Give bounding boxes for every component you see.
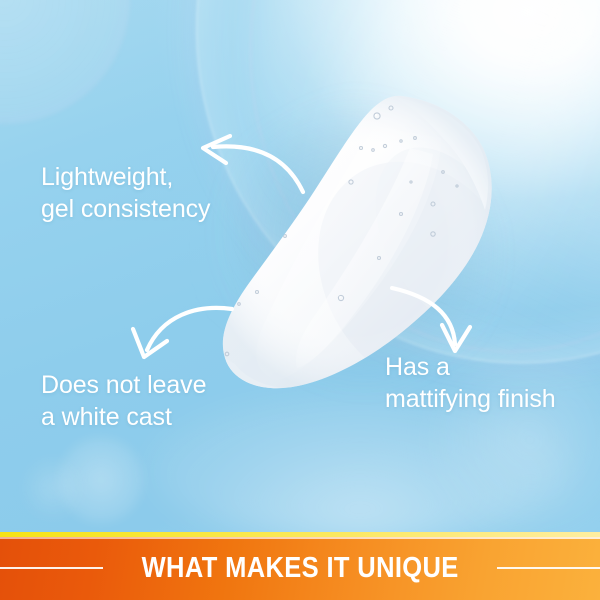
gel-swatch-illustration	[205, 86, 505, 396]
feature-label-lightweight: Lightweight, gel consistency	[41, 162, 210, 225]
gel-swatch	[205, 86, 505, 396]
banner-rule-right	[497, 567, 600, 569]
poster-canvas: Lightweight, gel consistency Does not le…	[0, 0, 600, 600]
banner-content: WHAT MAKES IT UNIQUE	[0, 552, 600, 585]
bokeh-circle-lower-left-secondary	[20, 455, 86, 521]
feature-label-no-white-cast: Does not leave a white cast	[41, 370, 206, 433]
banner-rule-left	[0, 567, 103, 569]
banner-title: WHAT MAKES IT UNIQUE	[141, 552, 458, 585]
banner-stripe-edge	[0, 537, 600, 539]
bottom-banner: WHAT MAKES IT UNIQUE	[0, 532, 600, 600]
feature-label-mattifying: Has a mattifying finish	[385, 352, 556, 415]
